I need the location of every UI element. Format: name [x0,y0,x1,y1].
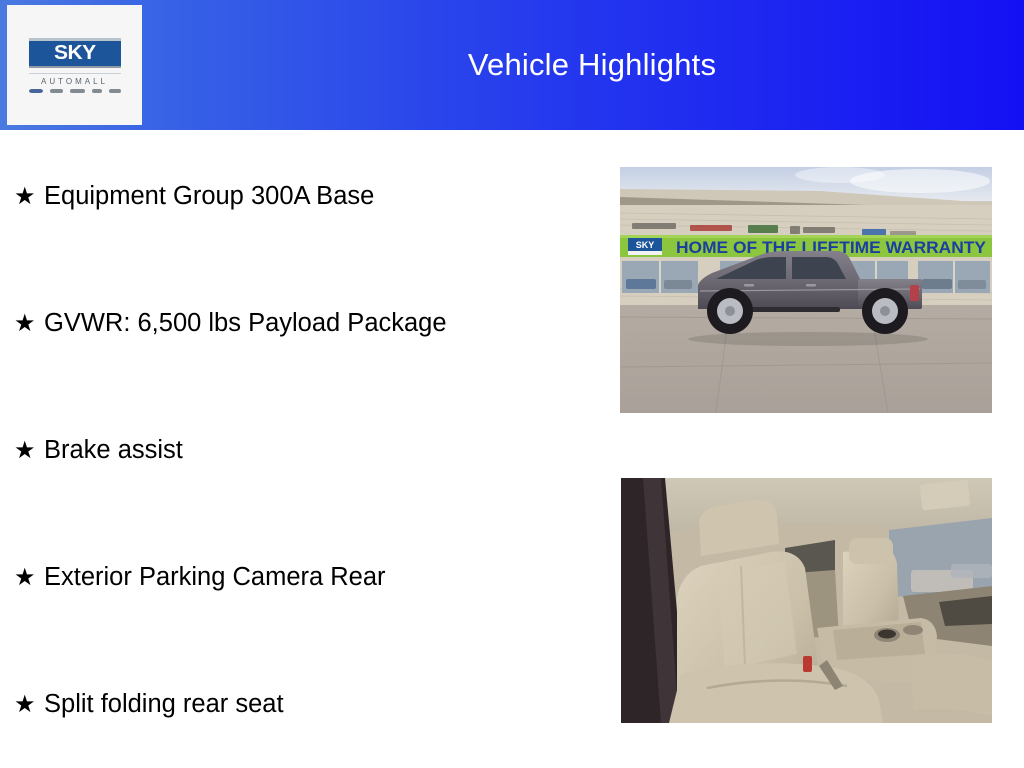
slide-root: Vehicle Highlights SKY AUTOMALL ★ Equipm… [0,0,1024,768]
brand-logo-strip [29,89,121,93]
vehicle-interior-illustration [621,478,992,723]
ram-brand-icon [109,89,121,93]
automall-label: AUTOMALL [29,73,121,86]
list-item: ★ Equipment Group 300A Base [14,184,374,210]
dealer-logo-inner: SKY AUTOMALL [25,38,125,93]
vehicle-exterior-illustration: SKY HOME OF THE LIFETIME WARRANTY [620,167,992,413]
list-item-label: Exterior Parking Camera Rear [44,565,386,591]
list-item: ★ Split folding rear seat [14,692,284,718]
star-icon: ★ [14,566,44,590]
list-item: ★ Exterior Parking Camera Rear [14,565,386,591]
list-item-label: GVWR: 6,500 lbs Payload Package [44,311,447,337]
vehicle-interior-photo [621,478,992,723]
star-icon: ★ [14,693,44,717]
sky-logo-text: SKY [54,42,96,65]
dealer-logo: SKY AUTOMALL [7,5,142,125]
chrysler-brand-icon [50,89,63,93]
sky-logo-box: SKY [29,38,121,68]
list-item-label: Split folding rear seat [44,692,284,718]
page-title: Vehicle Highlights [160,0,1024,130]
vehicle-exterior-photo: SKY HOME OF THE LIFETIME WARRANTY [620,167,992,413]
list-item: ★ GVWR: 6,500 lbs Payload Package [14,311,447,337]
feature-list: ★ Equipment Group 300A Base ★ GVWR: 6,50… [0,130,600,768]
ford-brand-icon [29,89,43,93]
list-item: ★ Brake assist [14,438,183,464]
star-icon: ★ [14,312,44,336]
list-item-label: Equipment Group 300A Base [44,184,374,210]
jeep-brand-icon [92,89,102,93]
star-icon: ★ [14,439,44,463]
dodge-brand-icon [70,89,85,93]
star-icon: ★ [14,185,44,209]
svg-text:SKY: SKY [636,240,655,250]
list-item-label: Brake assist [44,438,183,464]
